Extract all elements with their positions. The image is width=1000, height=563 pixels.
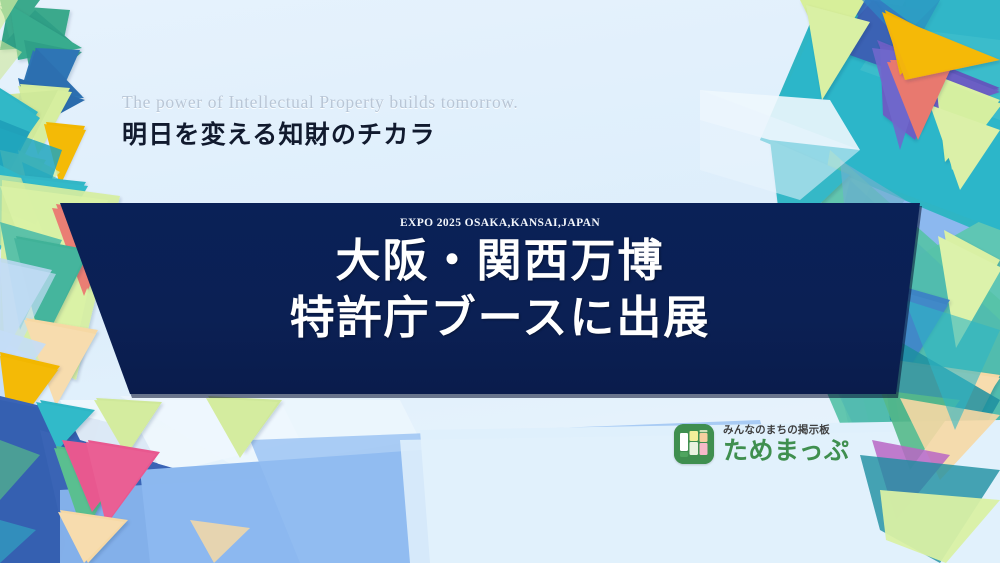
tamemap-logo[interactable]: みんなのまちの掲示板 ためまっぷ (674, 424, 850, 464)
tamemap-logo-name: ためまっぷ (723, 438, 850, 463)
tamemap-logo-tagline: みんなのまちの掲示板 (723, 425, 850, 436)
tagline-block: The power of Intellectual Property build… (122, 92, 682, 152)
tamemap-logo-text: みんなのまちの掲示板 ためまっぷ (723, 425, 850, 464)
banner-headline-line-2: 特許庁ブースに出展 (290, 290, 711, 347)
banner-text-block: EXPO 2025 OSAKA,KANSAI,JAPAN 大阪・関西万博 特許庁… (0, 203, 1000, 393)
tagline-english: The power of Intellectual Property build… (122, 92, 682, 114)
banner-headline-line-1: 大阪・関西万博 (335, 233, 664, 290)
promo-banner-image: The power of Intellectual Property build… (0, 0, 1000, 563)
tamemap-grid-icon (674, 424, 714, 464)
banner-eyebrow: EXPO 2025 OSAKA,KANSAI,JAPAN (400, 217, 600, 229)
tagline-japanese: 明日を変える知財のチカラ (122, 118, 682, 152)
